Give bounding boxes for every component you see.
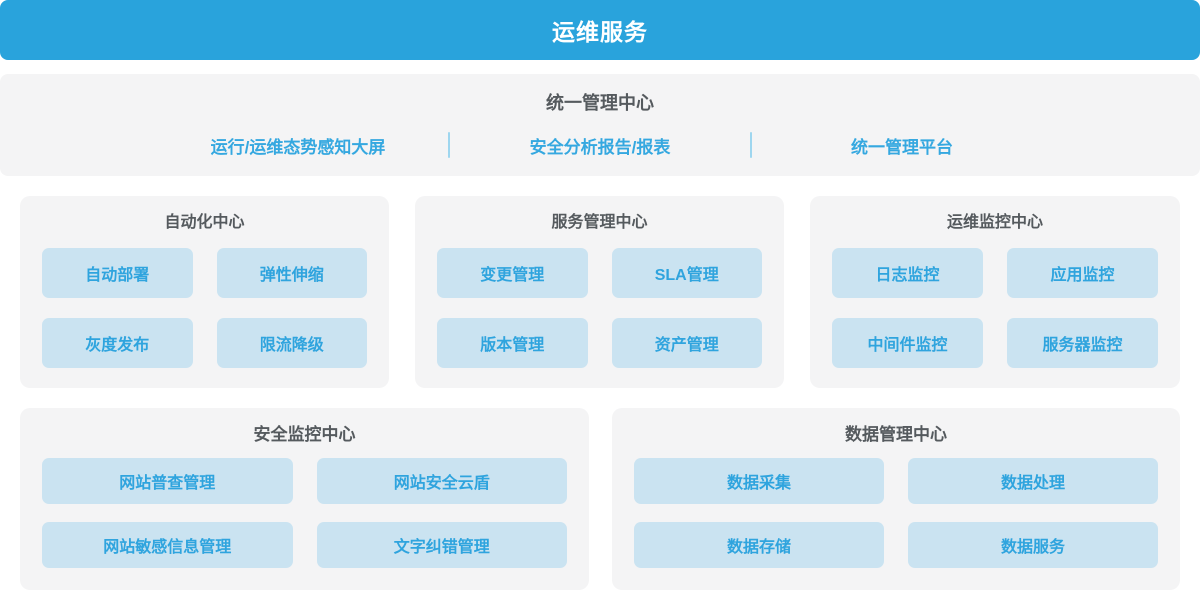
chip-data-storage[interactable]: 数据存储: [634, 522, 884, 568]
chip-auto-deploy[interactable]: 自动部署: [42, 248, 193, 298]
panel-service-management-center-chips: 变更管理 SLA管理 版本管理 资产管理: [437, 248, 762, 368]
chip-data-service[interactable]: 数据服务: [908, 522, 1158, 568]
unified-management-center-section: 统一管理中心 运行/运维态势感知大屏 安全分析报告/报表 统一管理平台: [0, 74, 1200, 176]
ops-service-architecture-diagram: 运维服务 统一管理中心 运行/运维态势感知大屏 安全分析报告/报表 统一管理平台…: [0, 0, 1200, 602]
page-banner: 运维服务: [0, 0, 1200, 60]
chip-text-correction-management[interactable]: 文字纠错管理: [317, 522, 568, 568]
chip-website-security-cloud-shield[interactable]: 网站安全云盾: [317, 458, 568, 504]
chip-asset-management[interactable]: 资产管理: [612, 318, 763, 368]
panel-automation-center-title: 自动化中心: [42, 210, 367, 236]
panel-security-monitoring-center: 安全监控中心 网站普查管理 网站安全云盾 网站敏感信息管理 文字纠错管理: [20, 408, 589, 590]
panel-ops-monitoring-center: 运维监控中心 日志监控 应用监控 中间件监控 服务器监控: [810, 196, 1180, 388]
panel-automation-center: 自动化中心 自动部署 弹性伸缩 灰度发布 限流降级: [20, 196, 389, 388]
panel-automation-center-chips: 自动部署 弹性伸缩 灰度发布 限流降级: [42, 248, 367, 368]
link-security-analysis-report[interactable]: 安全分析报告/报表: [450, 133, 750, 158]
chip-middleware-monitoring[interactable]: 中间件监控: [832, 318, 983, 368]
panel-ops-monitoring-center-chips: 日志监控 应用监控 中间件监控 服务器监控: [832, 248, 1158, 368]
panel-data-management-center: 数据管理中心 数据采集 数据处理 数据存储 数据服务: [612, 408, 1180, 590]
link-unified-management-platform[interactable]: 统一管理平台: [752, 133, 1052, 158]
chip-log-monitoring[interactable]: 日志监控: [832, 248, 983, 298]
page-title: 运维服务: [552, 13, 648, 47]
chip-version-management[interactable]: 版本管理: [437, 318, 588, 368]
chip-website-census-management[interactable]: 网站普查管理: [42, 458, 293, 504]
panel-service-management-center-title: 服务管理中心: [437, 210, 762, 236]
chip-sla-management[interactable]: SLA管理: [612, 248, 763, 298]
unified-management-center-title: 统一管理中心: [0, 90, 1200, 116]
panel-security-monitoring-center-title: 安全监控中心: [42, 422, 567, 448]
chip-data-processing[interactable]: 数据处理: [908, 458, 1158, 504]
chip-change-management[interactable]: 变更管理: [437, 248, 588, 298]
chip-application-monitoring[interactable]: 应用监控: [1007, 248, 1158, 298]
panel-service-management-center: 服务管理中心 变更管理 SLA管理 版本管理 资产管理: [415, 196, 784, 388]
chip-data-collection[interactable]: 数据采集: [634, 458, 884, 504]
panel-security-monitoring-center-chips: 网站普查管理 网站安全云盾 网站敏感信息管理 文字纠错管理: [42, 458, 567, 568]
link-situational-awareness-dashboard[interactable]: 运行/运维态势感知大屏: [148, 133, 448, 158]
chip-elastic-scaling[interactable]: 弹性伸缩: [217, 248, 368, 298]
chip-rate-limiting[interactable]: 限流降级: [217, 318, 368, 368]
chip-website-sensitive-info-management[interactable]: 网站敏感信息管理: [42, 522, 293, 568]
panel-ops-monitoring-center-title: 运维监控中心: [832, 210, 1158, 236]
unified-management-center-links: 运行/运维态势感知大屏 安全分析报告/报表 统一管理平台: [0, 130, 1200, 160]
panel-data-management-center-chips: 数据采集 数据处理 数据存储 数据服务: [634, 458, 1158, 568]
chip-server-monitoring[interactable]: 服务器监控: [1007, 318, 1158, 368]
panel-data-management-center-title: 数据管理中心: [634, 422, 1158, 448]
chip-gray-release[interactable]: 灰度发布: [42, 318, 193, 368]
